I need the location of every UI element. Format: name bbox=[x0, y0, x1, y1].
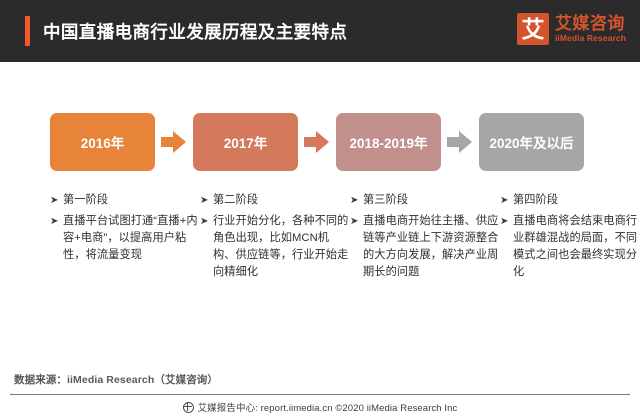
flow-arrow-2-icon bbox=[304, 131, 330, 153]
data-source-note: 数据来源：iiMedia Research（艾媒咨询） bbox=[14, 372, 218, 387]
stage-label: 2017年 bbox=[224, 132, 268, 152]
list-item-text: 行业开始分化，各种不同的角色出现，比如MCN机构、供应链等，行业开始走向精细化 bbox=[213, 213, 350, 281]
timeline-flow: 2016年 2017年 2018-2019年 2020年及以后 bbox=[50, 113, 595, 171]
list-item: ➤ 第三阶段 bbox=[350, 192, 500, 209]
stage-column-4: ➤ 第四阶段 ➤ 直播电商将会结束电商行业群雄混战的局面，不同模式之间也会最终实… bbox=[500, 192, 640, 285]
list-item: ➤ 行业开始分化，各种不同的角色出现，比如MCN机构、供应链等，行业开始走向精细… bbox=[200, 213, 350, 281]
list-item-text: 第三阶段 bbox=[363, 192, 408, 209]
list-item: ➤ 直播电商将会结束电商行业群雄混战的局面，不同模式之间也会最终实现分化 bbox=[500, 213, 640, 281]
list-item-text: 第一阶段 bbox=[63, 192, 108, 209]
bullet-arrow-icon: ➤ bbox=[200, 192, 213, 209]
stage-column-3: ➤ 第三阶段 ➤ 直播电商开始往主播、供应链等产业链上下游资源整合的大方向发展，… bbox=[350, 192, 500, 285]
stage-label: 2020年及以后 bbox=[489, 132, 573, 152]
flow-arrow-1-icon bbox=[161, 131, 187, 153]
bullet-arrow-icon: ➤ bbox=[500, 192, 513, 209]
iimedia-logo: 艾 艾媒咨询 iiMedia Research bbox=[517, 13, 626, 45]
stage-column-2: ➤ 第二阶段 ➤ 行业开始分化，各种不同的角色出现，比如MCN机构、供应链等，行… bbox=[200, 192, 350, 285]
page-header: 中国直播电商行业发展历程及主要特点 艾 艾媒咨询 iiMedia Researc… bbox=[0, 0, 640, 62]
page-title: 中国直播电商行业发展历程及主要特点 bbox=[43, 19, 347, 44]
list-item: ➤ 第二阶段 bbox=[200, 192, 350, 209]
stage-box-2020-and-after: 2020年及以后 bbox=[479, 113, 584, 171]
bullet-arrow-icon: ➤ bbox=[350, 192, 363, 209]
logo-name-en: iiMedia Research bbox=[555, 33, 626, 44]
list-item-text: 直播平台试图打通“直播+内容+电商”，以提高用户粘性，将流量变现 bbox=[63, 213, 200, 264]
title-accent-bar bbox=[25, 16, 30, 46]
list-item: ➤ 第四阶段 bbox=[500, 192, 640, 209]
page-footer: 艾媒报告中心: report.iimedia.cn ©2020 iiMedia … bbox=[0, 398, 640, 416]
bullet-arrow-icon: ➤ bbox=[500, 213, 513, 230]
bullet-arrow-icon: ➤ bbox=[200, 213, 213, 230]
bullet-arrow-icon: ➤ bbox=[50, 192, 63, 209]
stage-box-2017: 2017年 bbox=[193, 113, 298, 171]
logo-mark-icon: 艾 bbox=[517, 13, 549, 45]
globe-icon bbox=[183, 402, 194, 413]
list-item: ➤ 直播平台试图打通“直播+内容+电商”，以提高用户粘性，将流量变现 bbox=[50, 213, 200, 264]
stage-label: 2018-2019年 bbox=[349, 132, 427, 152]
list-item-text: 第四阶段 bbox=[513, 192, 558, 209]
logo-name-cn: 艾媒咨询 bbox=[555, 15, 626, 33]
list-item: ➤ 直播电商开始往主播、供应链等产业链上下游资源整合的大方向发展，解决产业周期长… bbox=[350, 213, 500, 281]
logo-text: 艾媒咨询 iiMedia Research bbox=[555, 15, 626, 44]
flow-arrow-3-icon bbox=[447, 131, 473, 153]
bullet-arrow-icon: ➤ bbox=[350, 213, 363, 230]
footer-text: 艾媒报告中心: report.iimedia.cn ©2020 iiMedia … bbox=[198, 400, 458, 414]
list-item: ➤ 第一阶段 bbox=[50, 192, 200, 209]
stage-label: 2016年 bbox=[81, 132, 125, 152]
footer-divider bbox=[10, 394, 630, 395]
stage-column-1: ➤ 第一阶段 ➤ 直播平台试图打通“直播+内容+电商”，以提高用户粘性，将流量变… bbox=[50, 192, 200, 285]
bullet-arrow-icon: ➤ bbox=[50, 213, 63, 230]
stage-box-2018-2019: 2018-2019年 bbox=[336, 113, 441, 171]
list-item-text: 第二阶段 bbox=[213, 192, 258, 209]
stage-description-columns: ➤ 第一阶段 ➤ 直播平台试图打通“直播+内容+电商”，以提高用户粘性，将流量变… bbox=[50, 192, 610, 285]
list-item-text: 直播电商开始往主播、供应链等产业链上下游资源整合的大方向发展，解决产业周期长的问… bbox=[363, 213, 500, 281]
list-item-text: 直播电商将会结束电商行业群雄混战的局面，不同模式之间也会最终实现分化 bbox=[513, 213, 640, 281]
stage-box-2016: 2016年 bbox=[50, 113, 155, 171]
